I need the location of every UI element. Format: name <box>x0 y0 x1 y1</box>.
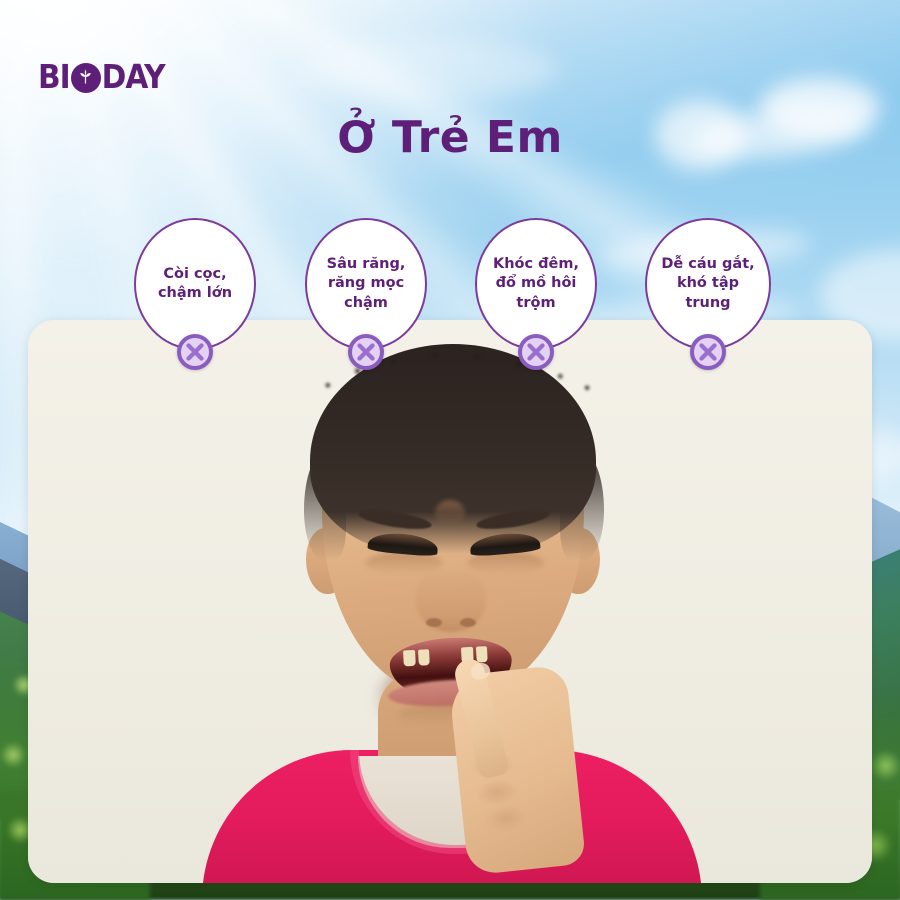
symptom-label-4: Dễ cáu gắt, khó tập trung <box>657 255 759 312</box>
symptom-label-1: Còi cọc, chậm lớn <box>158 265 232 303</box>
symptom-label-2: Sâu răng, răng mọc chậm <box>327 255 406 312</box>
x-circle-icon <box>177 334 213 370</box>
symptom-bubble-2[interactable]: Sâu răng, răng mọc chậm <box>305 218 427 350</box>
x-circle-icon <box>518 334 554 370</box>
poster-canvas: BI DAY Ở Trẻ Em <box>0 0 900 900</box>
symptom-bubble-4[interactable]: Dễ cáu gắt, khó tập trung <box>645 218 771 350</box>
x-circle-icon <box>348 334 384 370</box>
symptom-bubble-group: Còi cọc, chậm lớn Sâu răng, răng mọc chậ… <box>0 0 900 900</box>
symptom-bubble-1[interactable]: Còi cọc, chậm lớn <box>134 218 256 350</box>
symptom-label-3: Khóc đêm, đổ mồ hôi trộm <box>493 255 579 312</box>
x-circle-icon <box>690 334 726 370</box>
symptom-bubble-3[interactable]: Khóc đêm, đổ mồ hôi trộm <box>475 218 597 350</box>
